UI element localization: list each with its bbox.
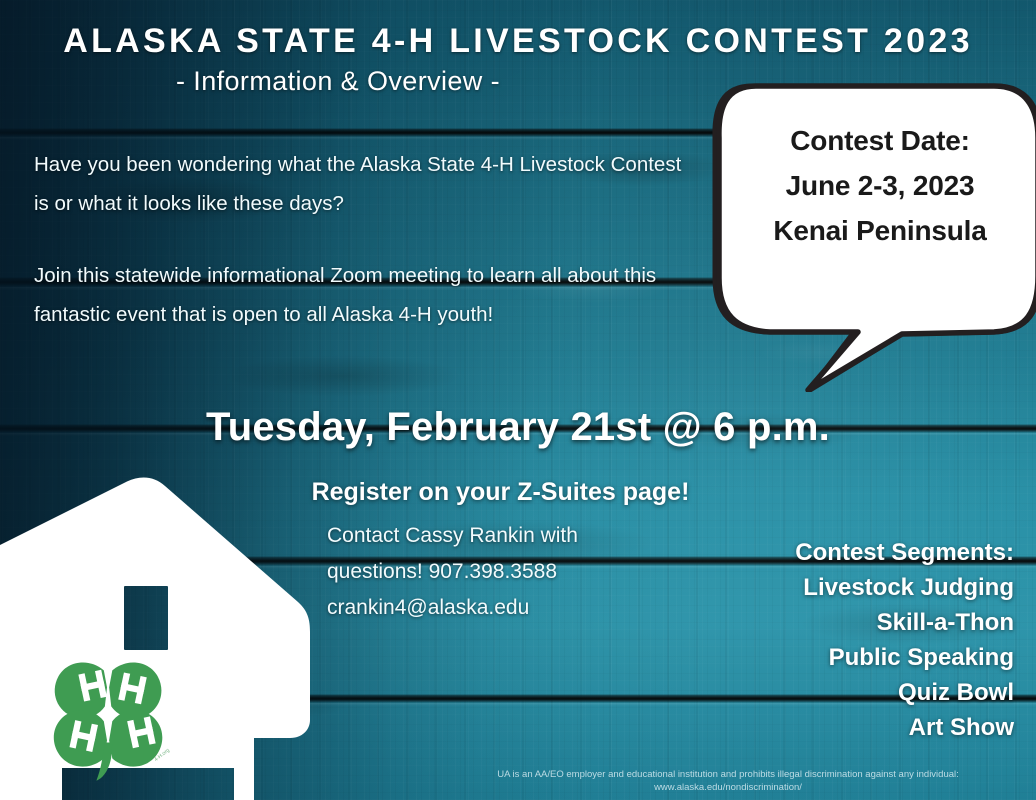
poster-canvas: ALASKA STATE 4-H LIVESTOCK CONTEST 2023 … <box>0 0 1036 800</box>
segment-item-public-speaking: Public Speaking <box>654 640 1014 675</box>
body-copy: Have you been wondering what the Alaska … <box>34 145 694 334</box>
meeting-date-headline: Tuesday, February 21st @ 6 p.m. <box>0 405 1036 450</box>
segment-item-quiz-bowl: Quiz Bowl <box>654 675 1014 710</box>
contest-date-speech-bubble: Contest Date: June 2-3, 2023 Kenai Penin… <box>712 74 1036 392</box>
segment-item-skill-a-thon: Skill-a-Thon <box>654 605 1014 640</box>
body-paragraph-2: Join this statewide informational Zoom m… <box>34 256 694 334</box>
bubble-line-event-date: June 2-3, 2023 <box>730 163 1030 208</box>
page-title: ALASKA STATE 4-H LIVESTOCK CONTEST 2023 <box>0 22 1036 61</box>
four-h-house-logo: 4-H.org <box>0 468 454 800</box>
body-paragraph-1: Have you been wondering what the Alaska … <box>34 145 694 223</box>
nondiscrimination-disclaimer: UA is an AA/EO employer and educational … <box>430 768 1026 794</box>
contest-segments-heading: Contest Segments: <box>654 535 1014 570</box>
bubble-line-contest-date: Contest Date: <box>730 118 1030 163</box>
bubble-line-location: Kenai Peninsula <box>730 208 1030 253</box>
contest-segments-list: Contest Segments: Livestock Judging Skil… <box>654 535 1014 745</box>
segment-item-livestock-judging: Livestock Judging <box>654 570 1014 605</box>
bubble-text: Contest Date: June 2-3, 2023 Kenai Penin… <box>730 118 1030 253</box>
segment-item-art-show: Art Show <box>654 710 1014 745</box>
page-subtitle: - Information & Overview - <box>0 66 676 97</box>
